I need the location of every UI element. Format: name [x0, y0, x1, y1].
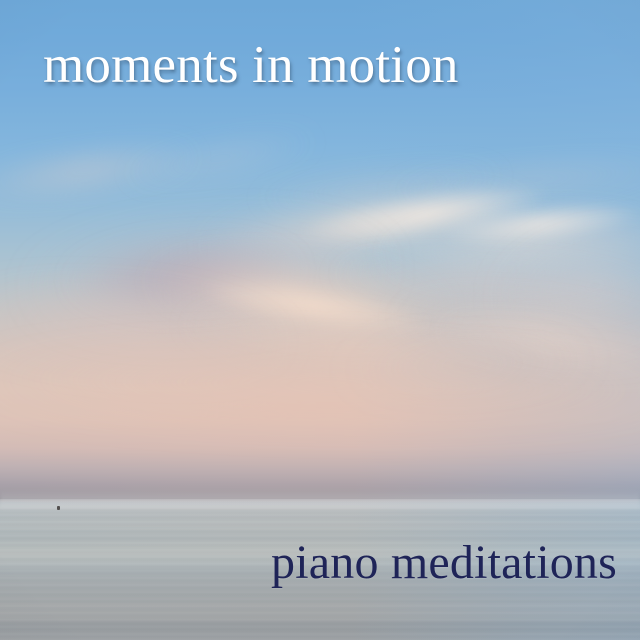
distant-boat-speck [57, 506, 60, 510]
album-cover-artwork: moments in motion piano meditations [0, 0, 640, 640]
cloud-wisp-upper-mid [250, 164, 510, 209]
cloud-sweep-lower-center [178, 297, 522, 388]
water-band-9 [0, 615, 640, 619]
cloud-feather-right-low [429, 311, 640, 384]
album-title: moments in motion [43, 39, 459, 92]
cloud-blue-gap-center [339, 343, 600, 387]
cloud-streak-top-right [380, 157, 640, 203]
water-band-10 [0, 629, 640, 632]
cloud-sweep-lower-left [0, 286, 292, 375]
cloud-plume-right [378, 200, 640, 290]
cloud-band-mid-right [329, 251, 640, 318]
horizon-mist [0, 490, 640, 512]
cloud-sweep-lower-right [388, 285, 640, 373]
cloud-mass-center-bright [298, 173, 552, 256]
cloud-swirl-center-bright [198, 267, 432, 346]
water-band-2 [0, 513, 640, 515]
water-band-1 [0, 505, 640, 508]
cloud-mass-left-mauve [27, 218, 393, 338]
cloud-wisp-upper-left [0, 142, 201, 200]
cloud-haze-blend-bottom [0, 344, 640, 427]
water-band-8 [0, 599, 640, 602]
cloud-swirl-center [147, 240, 454, 351]
cloud-mass-left-core [68, 236, 301, 314]
album-subtitle: piano meditations [271, 539, 617, 587]
cloud-mass-center-upper [198, 176, 533, 276]
cloud-wisp-upper-left-tail [120, 131, 319, 185]
cloud-band-far-right [493, 221, 640, 349]
cloud-plume-right-bright [439, 195, 640, 254]
water-band-3 [0, 523, 640, 527]
